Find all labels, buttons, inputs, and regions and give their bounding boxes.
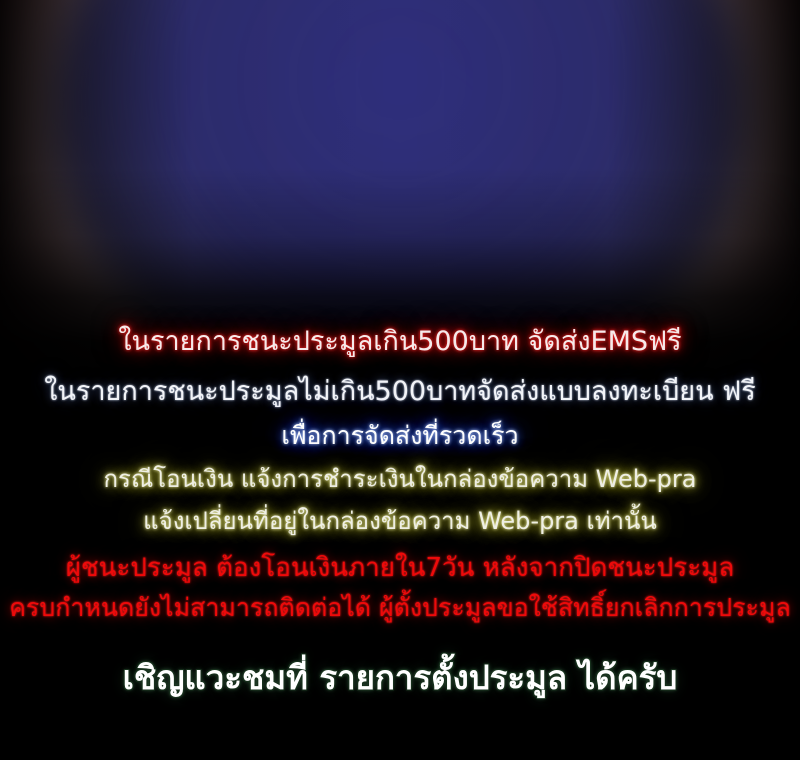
shipping-registered-free-line: ในรายการชนะประมูลไม่เกิน500บาทจัดส่งแบบล…	[0, 378, 800, 405]
auction-terms-banner: ในรายการชนะประมูลเกิน500บาท จัดส่งEMSฟรี…	[0, 0, 800, 760]
cancellation-policy-line: ครบกำหนดยังไม่สามารถติดต่อได้ ผู้ตั้งประ…	[0, 595, 800, 620]
visit-auction-listing-line: เชิญแวะชมที่ รายการตั้งประมูล ได้ครับ	[0, 661, 800, 694]
shipping-ems-free-line: ในรายการชนะประมูลเกิน500บาท จัดส่งEMSฟรี	[0, 328, 800, 355]
payment-deadline-line: ผู้ชนะประมูล ต้องโอนเงินภายใน7วัน หลังจา…	[0, 555, 800, 581]
announcement-text-block: ในรายการชนะประมูลเกิน500บาท จัดส่งEMSฟรี…	[0, 0, 800, 760]
payment-notice-line: กรณีโอนเงิน แจ้งการชำระเงินในกล่องข้อควา…	[0, 467, 800, 491]
address-change-notice-line: แจ้งเปลี่ยนที่อยู่ในกล่องข้อความ Web-pra…	[0, 509, 800, 533]
fast-delivery-line: เพื่อการจัดส่งที่รวดเร็ว	[0, 423, 800, 448]
